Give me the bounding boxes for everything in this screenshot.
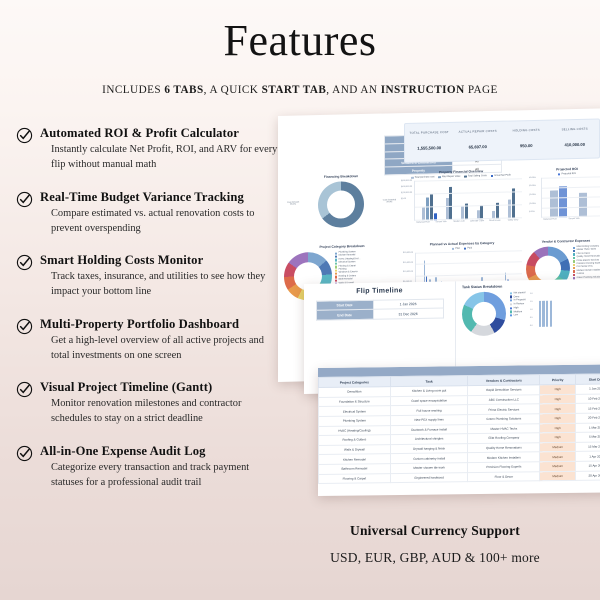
x-axis-labels: Oakwood Fixer Sunset Villa: [541, 217, 600, 221]
cell-start-date: 20 Apr 2026: [576, 470, 600, 480]
chart-title: Project Category Breakdown: [284, 243, 400, 250]
chart-legend: Not started Done In Progress In Review H…: [510, 291, 526, 335]
financing-breakdown-chart: Financing Breakdown Loan Amount 65.1% Ca…: [286, 173, 396, 238]
kpi-holding-costs: HOLDING COSTS 950.00: [502, 121, 551, 160]
cell-priority: Medium: [540, 471, 576, 481]
cell-task: Engineered hardwood: [390, 472, 468, 483]
list-item: All-in-One Expense Audit Log Categorize …: [16, 444, 278, 491]
feature-list: Automated ROI & Profit Calculator Instan…: [16, 126, 278, 507]
feature-title: Automated ROI & Profit Calculator: [40, 126, 278, 140]
list-item: Real-Time Budget Variance Tracking Compa…: [16, 190, 278, 237]
cell-start-date: 1 Mar 2026: [576, 422, 600, 432]
currency-support: Universal Currency Support USD, EUR, GBP…: [280, 523, 590, 566]
y-axis-labels: $600,000.00 $400,000.00 $200,000.00 $0.0…: [401, 180, 412, 205]
check-circle-icon: [16, 127, 33, 144]
chart-title: Vendor & Contractor Expenses: [526, 238, 600, 244]
chart-legend: Projected ROI: [528, 172, 600, 176]
cell-start-date: 5 Mar 2026: [576, 432, 600, 442]
feature-description: Compare estimated vs. actual renovation …: [40, 207, 278, 237]
feature-title: Real-Time Budget Variance Tracking: [40, 190, 278, 204]
cell-priority: High: [540, 385, 576, 395]
timeline-value: 31 Dec 2026: [373, 308, 443, 319]
kpi-value: 65,697.00: [454, 144, 503, 150]
check-circle-icon: [16, 318, 33, 335]
feature-description: Monitor renovation milestones and contra…: [40, 397, 278, 427]
cell-priority: High: [540, 404, 576, 414]
task-status-title: Task Status Breakdown: [456, 283, 600, 290]
check-circle-icon: [16, 191, 33, 208]
timeline-label: End Date: [316, 310, 373, 320]
list-item: Multi-Property Portfolio Dashboard Get a…: [16, 317, 278, 364]
kpi-label: TOTAL PURCHASE COST: [405, 130, 454, 135]
y-axis-labels: 40.00% 30.00% 20.00% 10.00% 0.00%: [529, 177, 536, 218]
kpi-label: SELLING COSTS: [551, 126, 600, 131]
cell-start-date: 15 Feb 2026: [576, 403, 600, 413]
kpi-total-purchase-cost: TOTAL PURCHASE COST 1,555,500.00: [405, 123, 454, 162]
list-item: Automated ROI & Profit Calculator Instan…: [16, 126, 278, 173]
flip-timeline-table: Start Date 1 Jan 2026 End Date 31 Dec 20…: [316, 299, 444, 321]
cell-start-date: 15 Mar 2026: [576, 442, 600, 452]
kpi-value: 1,555,500.00: [405, 145, 454, 151]
kpi-label: ACTUAL REPAIR COSTS: [454, 129, 503, 134]
check-circle-icon: [16, 254, 33, 271]
cell-start-date: 10 Feb 2026: [576, 394, 600, 404]
flip-timeline-title: Flip Timeline: [304, 286, 455, 296]
cell-priority: High: [540, 413, 576, 423]
kpi-strip: TOTAL PURCHASE COST 1,555,500.00 ACTUAL …: [404, 118, 600, 163]
cell-priority: Medium: [540, 461, 576, 471]
task-table[interactable]: Project Categories Task Vendors & Contra…: [318, 373, 600, 484]
check-circle-icon: [16, 445, 33, 462]
cell-start-date: 15 Apr 2026: [576, 461, 600, 471]
currency-support-subtitle: USD, EUR, GBP, AUD & 100+ more: [280, 550, 590, 566]
kpi-value: 950.00: [502, 143, 551, 149]
cell-start-date: 1 Jan 2026: [576, 384, 600, 394]
column-priority[interactable]: Priority: [540, 374, 576, 385]
page-subtitle: INCLUDES 6 TABS, A QUICK START TAB, AND …: [0, 84, 600, 96]
projected-roi-chart: Projected ROI Projected ROI 40.00% 30.00…: [528, 166, 600, 234]
cell-start-date: 20 Feb 2026: [576, 413, 600, 423]
task-table-card[interactable]: Project Categories Task Vendors & Contra…: [318, 364, 600, 496]
page-title: Features: [0, 0, 600, 64]
y-axis-labels: 2.0 1.5 1.0 0.5 0.0: [530, 293, 533, 331]
cell-priority: Medium: [540, 452, 576, 462]
check-circle-icon: [16, 381, 33, 398]
task-table-body: Demolition Kitchen & Living room gut Rap…: [319, 384, 600, 484]
cell-category: Flooring & Carpet: [319, 473, 391, 483]
feature-title: Smart Holding Costs Monitor: [40, 253, 278, 267]
kpi-selling-costs: SELLING COSTS 410,000.00: [551, 119, 600, 158]
cell-start-date: 1 Apr 2026: [576, 451, 600, 461]
feature-description: Track taxes, insurance, and utilities to…: [40, 270, 278, 300]
column-start-date[interactable]: Start Date: [576, 374, 600, 385]
feature-description: Categorize every transaction and track p…: [40, 461, 278, 491]
currency-support-title: Universal Currency Support: [280, 523, 590, 539]
donut-label-right: Cash Invested 34.9%: [383, 199, 396, 203]
donut-chart: [462, 291, 506, 336]
kpi-actual-repair-costs: ACTUAL REPAIR COSTS 65,697.00: [454, 122, 503, 161]
cell-priority: High: [540, 433, 576, 443]
list-item: Visual Project Timeline (Gantt) Monitor …: [16, 380, 278, 427]
dashboard-screenshot-stack: Dashboard Start Date1 Jan 2026 End Date1…: [278, 116, 600, 516]
donut-label-left: Loan Amount 65.1%: [287, 201, 299, 205]
kpi-value: 410,000.00: [551, 141, 600, 147]
task-count-chart: 2.0 1.5 1.0 0.5 0.0: [530, 290, 600, 335]
feature-description: Instantly calculate Net Profit, ROI, and…: [40, 143, 278, 173]
cell-priority: Medium: [540, 442, 576, 452]
feature-title: Multi-Property Portfolio Dashboard: [40, 317, 278, 331]
kpi-label: HOLDING COSTS: [502, 128, 551, 133]
list-item: Smart Holding Costs Monitor Track taxes,…: [16, 253, 278, 300]
feature-description: Get a high-level overview of all active …: [40, 334, 278, 364]
cell-vendor: Floor & Decor: [468, 471, 540, 481]
table-row: End Date 31 Dec 2026: [316, 308, 443, 320]
donut-chart: [318, 181, 364, 228]
feature-title: All-in-One Expense Audit Log: [40, 444, 278, 458]
cell-priority: High: [540, 423, 576, 433]
property-financial-overview-chart: Property Financial Overview Total purcha…: [400, 168, 522, 237]
cell-priority: High: [540, 394, 576, 404]
feature-title: Visual Project Timeline (Gantt): [40, 380, 278, 394]
